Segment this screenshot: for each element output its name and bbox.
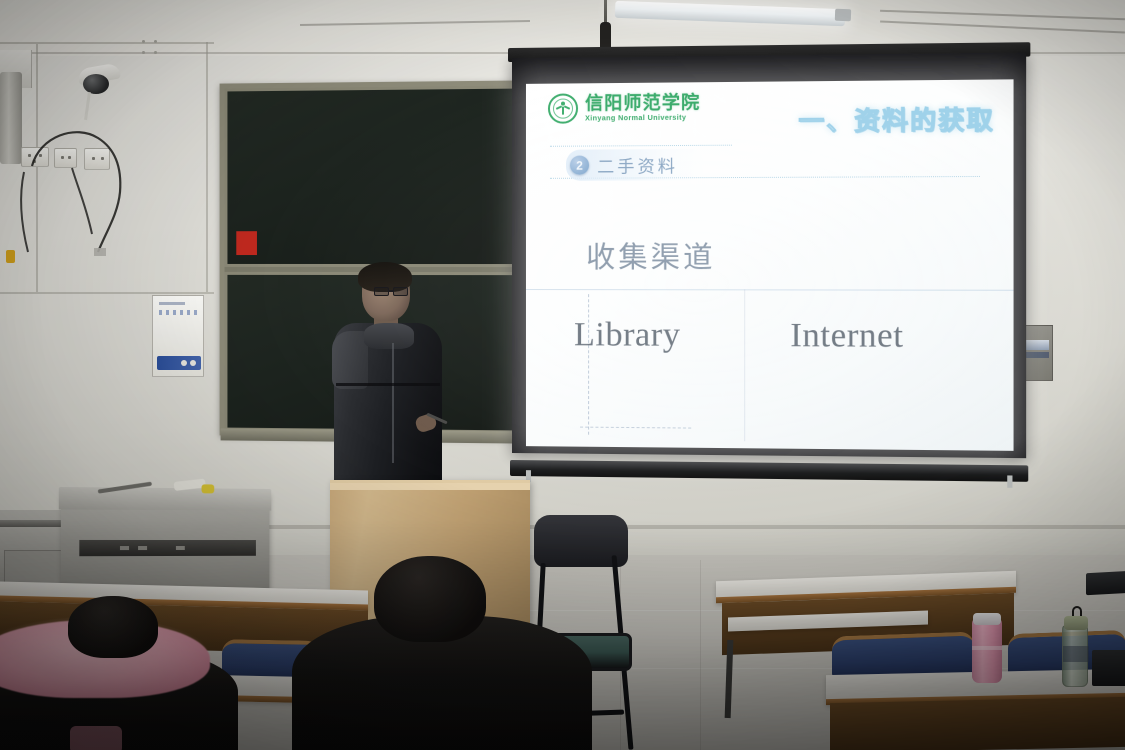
yellow-connector-icon xyxy=(202,484,215,493)
jacket-seam xyxy=(336,383,440,386)
podium-top-edge xyxy=(330,483,530,490)
slide-dotted-bottom xyxy=(580,427,691,429)
av-equipment-cabinet xyxy=(61,491,270,593)
slide-column-internet: Internet xyxy=(747,317,1013,357)
dark-equipment-slab xyxy=(1092,650,1125,686)
tube-light-cap-icon xyxy=(835,9,851,22)
subtitle-text: 二手资料 xyxy=(597,152,678,178)
dark-equipment-slab xyxy=(1086,571,1125,595)
dome-security-camera-icon xyxy=(78,66,120,96)
student-head xyxy=(68,596,158,658)
slide-divider-vertical xyxy=(744,289,745,441)
desk-front-panel xyxy=(830,697,1125,750)
wall-panel-seam xyxy=(0,292,214,294)
header-dotted-rule xyxy=(550,145,732,147)
projection-screen[interactable]: 信阳师范学院 Xinyang Normal University 一、资料的获取… xyxy=(512,53,1026,470)
slide-columns: Library Internet xyxy=(526,316,1014,356)
glasses-icon xyxy=(374,287,412,297)
chalkboard-upper-pane xyxy=(225,85,525,267)
student-bag-accent xyxy=(70,726,122,750)
slide-section-title: 一、资料的获取 xyxy=(798,100,994,138)
presenter-at-podium xyxy=(330,265,446,495)
student-front-left xyxy=(0,596,250,750)
presentation-slide: 信阳师范学院 Xinyang Normal University 一、资料的获取… xyxy=(526,79,1014,451)
wall-marker-dots xyxy=(142,40,168,58)
slide-divider-horizontal xyxy=(526,289,1014,291)
wall-cable xyxy=(6,96,186,271)
jacket-zipper xyxy=(392,343,394,463)
wall-control-panel[interactable] xyxy=(152,295,204,377)
screen-hook-right xyxy=(1007,475,1012,487)
wall-panel-seam xyxy=(206,42,208,292)
blue-classroom-chair xyxy=(832,632,974,679)
university-name-cn: 信阳师范学院 xyxy=(585,93,700,113)
presenter-shoulder xyxy=(332,331,368,389)
subtitle-badge: 2 xyxy=(570,156,589,175)
student-head xyxy=(374,556,486,642)
green-water-bottle xyxy=(1062,625,1088,687)
red-card-on-board xyxy=(236,231,257,255)
presenter-collar xyxy=(364,323,414,349)
slide-heading: 收集渠道 xyxy=(586,234,716,276)
cable-clip xyxy=(6,250,15,263)
university-crest-icon xyxy=(548,93,578,123)
floor-tile-line xyxy=(700,560,701,750)
student-front-center xyxy=(292,556,592,750)
university-name-en: Xinyang Normal University xyxy=(585,113,700,123)
wall-panel-seam xyxy=(0,42,214,44)
slide-column-library: Library xyxy=(526,316,747,355)
slide-dotted-vertical xyxy=(588,294,589,435)
cabinet-equipment-slot xyxy=(79,540,256,556)
slide-header: 信阳师范学院 Xinyang Normal University 一、资料的获取 xyxy=(526,86,1014,146)
pink-thermos xyxy=(972,618,1002,683)
classroom-scene: 信阳师范学院 Xinyang Normal University 一、资料的获取… xyxy=(0,0,1125,750)
slide-canvas: 信阳师范学院 Xinyang Normal University 一、资料的获取… xyxy=(526,79,1014,451)
slide-subtitle-row: 2 二手资料 xyxy=(566,149,704,181)
university-logo: 信阳师范学院 Xinyang Normal University xyxy=(548,92,700,123)
